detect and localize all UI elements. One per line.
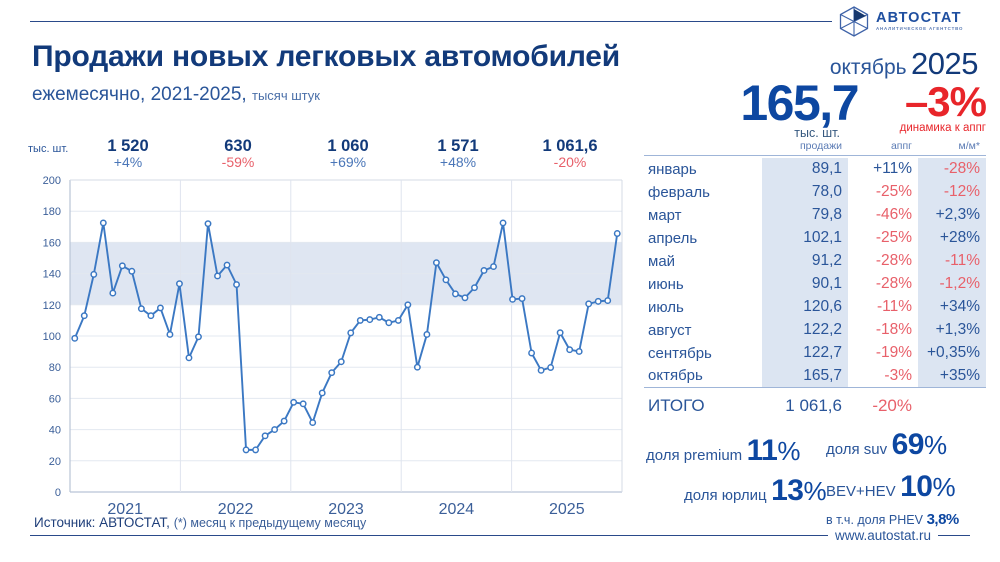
website-url: www.autostat.ru: [828, 528, 938, 543]
data-point: [234, 282, 239, 287]
y-tick-label: 200: [43, 175, 61, 187]
data-point: [586, 301, 591, 306]
y-tick-label: 140: [43, 269, 61, 281]
cell-yoy: -18%: [848, 319, 918, 342]
x-tick-label-2025: 2025: [549, 501, 585, 515]
table-total-row: ИТОГО1 061,6-20%: [644, 391, 986, 417]
cell-sales: 78,0: [762, 181, 848, 204]
data-point: [596, 299, 601, 304]
data-point: [167, 332, 172, 337]
source-footnote: (*) месяц к предыдущему месяцу: [174, 516, 367, 530]
data-point: [110, 290, 115, 295]
data-point: [120, 263, 125, 268]
stat-bev-hev: BEV+HEV 10%: [826, 472, 955, 502]
data-point: [472, 285, 477, 290]
stat-bev-hev-value: 10%: [900, 470, 955, 503]
data-point: [377, 315, 382, 320]
share-stats: доля premium 11% доля suv 69% доля юрлиц…: [630, 424, 990, 524]
data-point: [510, 297, 515, 302]
data-point: [481, 268, 486, 273]
stat-legal-entities: доля юрлиц 13%: [684, 476, 826, 506]
logo-name: АВТОСТАТ: [876, 11, 963, 26]
data-point: [415, 365, 420, 370]
cell-yoy: -19%: [848, 342, 918, 365]
data-point: [348, 330, 353, 335]
data-point: [215, 273, 220, 278]
y-tick-label: 80: [49, 362, 61, 374]
cell-month: апрель: [644, 227, 762, 250]
cell-month: август: [644, 319, 762, 342]
cell-mom: -1,2%: [918, 273, 986, 296]
table-row: июнь90,1-28%-1,2%: [644, 273, 986, 296]
report-year: 2025: [911, 46, 978, 81]
kpi-delta-label: динамика к аппг: [858, 122, 986, 134]
data-point: [386, 320, 391, 325]
data-point: [462, 295, 467, 300]
monthly-sales-table: продажи аппг м/м* январь89,1+11%-28%февр…: [644, 140, 986, 417]
source-note: Источник: АВТОСТАТ, (*) месяц к предыдущ…: [34, 515, 372, 530]
logo-hexagon-icon: [836, 5, 872, 37]
data-point: [424, 332, 429, 337]
data-point: [453, 291, 458, 296]
data-point: [224, 262, 229, 267]
table-row: февраль78,0-25%-12%: [644, 181, 986, 204]
cell-total-mom: [918, 391, 986, 417]
y-tick-label: 160: [43, 237, 61, 249]
table-row: январь89,1+11%-28%: [644, 158, 986, 181]
data-point: [339, 359, 344, 364]
cell-total-label: ИТОГО: [644, 391, 762, 417]
data-point: [500, 220, 505, 225]
data-point: [72, 336, 77, 341]
kpi-delta: –3% динамика к аппг: [858, 82, 986, 134]
x-tick-label-2022: 2022: [218, 501, 254, 515]
cell-month: май: [644, 250, 762, 273]
cell-mom: +0,35%: [918, 342, 986, 365]
page-subtitle: ежемесячно, 2021-2025, тысяч штук: [32, 84, 320, 106]
data-point: [310, 420, 315, 425]
cell-sales: 102,1: [762, 227, 848, 250]
logo-wordmark: АВТОСТАТ АНАЛИТИЧЕСКОЕ АГЕНТСТВО: [876, 11, 963, 32]
data-point: [329, 370, 334, 375]
cell-mom: -28%: [918, 158, 986, 181]
col-header-month: [644, 140, 762, 156]
cell-sales: 89,1: [762, 158, 848, 181]
cell-month: июнь: [644, 273, 762, 296]
data-point: [148, 313, 153, 318]
data-point: [434, 260, 439, 265]
data-point: [253, 447, 258, 452]
stat-bev-hev-label: BEV+HEV: [826, 483, 896, 500]
y-tick-label: 180: [43, 206, 61, 218]
data-point: [91, 272, 96, 277]
cell-total-yoy: -20%: [848, 391, 918, 417]
y-tick-label: 120: [43, 300, 61, 312]
data-point: [605, 298, 610, 303]
cell-yoy: -25%: [848, 227, 918, 250]
stat-premium-label: доля premium: [646, 447, 742, 464]
data-point: [358, 318, 363, 323]
subtitle-unit: тысяч штук: [252, 88, 320, 103]
data-point: [567, 347, 572, 352]
data-point: [519, 296, 524, 301]
x-tick-label-2021: 2021: [107, 501, 143, 515]
data-point: [300, 401, 305, 406]
data-point: [186, 355, 191, 360]
stat-premium: доля premium 11%: [646, 436, 800, 466]
cell-month: март: [644, 204, 762, 227]
cell-yoy: -46%: [848, 204, 918, 227]
cell-yoy: -11%: [848, 296, 918, 319]
monthly-sales-chart: тыс. шт. 1 520+4%630-59%1 060+69%1 571+4…: [0, 125, 646, 515]
cell-mom: -11%: [918, 250, 986, 273]
autostat-logo: АВТОСТАТ АНАЛИТИЧЕСКОЕ АГЕНТСТВО: [832, 2, 978, 40]
y-tick-label: 100: [43, 331, 61, 343]
data-point: [396, 318, 401, 323]
data-point: [139, 306, 144, 311]
cell-month: сентябрь: [644, 342, 762, 365]
stat-suv-label: доля suv: [826, 441, 887, 458]
data-point: [129, 269, 134, 274]
data-point: [557, 330, 562, 335]
data-point: [243, 447, 248, 452]
cell-sales: 79,8: [762, 204, 848, 227]
data-point: [82, 313, 87, 318]
cell-mom: +35%: [918, 365, 986, 388]
data-point: [158, 305, 163, 310]
table-row: март79,8-46%+2,3%: [644, 204, 986, 227]
stat-suv-value: 69%: [892, 428, 947, 461]
data-point: [443, 277, 448, 282]
data-point: [548, 365, 553, 370]
data-point: [367, 317, 372, 322]
page-title: Продажи новых легковых автомобилей: [32, 40, 620, 74]
kpi-delta-value: –3%: [858, 82, 986, 122]
cell-yoy: -28%: [848, 273, 918, 296]
y-tick-label: 60: [49, 393, 61, 405]
data-point: [529, 350, 534, 355]
kpi-sales: 165,7 тыс. шт.: [672, 80, 858, 140]
cell-mom: +2,3%: [918, 204, 986, 227]
stat-phev: в т.ч. доля PHEV 3,8%: [826, 512, 959, 527]
cell-month: февраль: [644, 181, 762, 204]
data-point: [272, 427, 277, 432]
data-point: [576, 349, 581, 354]
header-divider: [30, 21, 970, 22]
kpi-sales-value: 165,7: [672, 80, 858, 128]
cell-yoy: -3%: [848, 365, 918, 388]
data-point: [538, 368, 543, 373]
cell-sales: 120,6: [762, 296, 848, 319]
cell-mom: -12%: [918, 181, 986, 204]
cell-total-sales: 1 061,6: [762, 391, 848, 417]
data-point: [101, 220, 106, 225]
infographic-page: АВТОСТАТ АНАЛИТИЧЕСКОЕ АГЕНТСТВО Продажи…: [0, 0, 1000, 562]
data-point: [491, 264, 496, 269]
stat-premium-value: 11%: [747, 434, 800, 467]
table-row: октябрь165,7-3%+35%: [644, 365, 986, 388]
stat-legal-entities-value: 13%: [771, 474, 826, 507]
table-row: август122,2-18%+1,3%: [644, 319, 986, 342]
table-row: июль120,6-11%+34%: [644, 296, 986, 319]
logo-tagline: АНАЛИТИЧЕСКОЕ АГЕНТСТВО: [876, 27, 963, 31]
x-tick-label-2023: 2023: [328, 501, 364, 515]
cell-sales: 91,2: [762, 250, 848, 273]
table-row: апрель102,1-25%+28%: [644, 227, 986, 250]
col-header-sales: продажи: [762, 140, 848, 156]
data-point: [291, 400, 296, 405]
data-point: [405, 302, 410, 307]
stat-suv: доля suv 69%: [826, 430, 947, 460]
data-point: [196, 334, 201, 339]
data-point: [320, 390, 325, 395]
table-header-row: продажи аппг м/м*: [644, 140, 986, 156]
cell-mom: +1,3%: [918, 319, 986, 342]
stat-legal-entities-label: доля юрлиц: [684, 487, 767, 504]
stat-phev-label: в т.ч. доля PHEV: [826, 513, 923, 527]
data-point: [177, 281, 182, 286]
y-tick-label: 20: [49, 456, 61, 468]
x-tick-label-2024: 2024: [439, 501, 475, 515]
cell-month: октябрь: [644, 365, 762, 388]
cell-sales: 90,1: [762, 273, 848, 296]
cell-sales: 122,7: [762, 342, 848, 365]
data-point: [281, 418, 286, 423]
cell-yoy: +11%: [848, 158, 918, 181]
chart-plot-area: 0204060801001201401601802002021202220232…: [0, 125, 646, 515]
table-row: май91,2-28%-11%: [644, 250, 986, 273]
cell-mom: +34%: [918, 296, 986, 319]
cell-mom: +28%: [918, 227, 986, 250]
cell-yoy: -25%: [848, 181, 918, 204]
cell-yoy: -28%: [848, 250, 918, 273]
col-header-mom: м/м*: [918, 140, 986, 156]
col-header-yoy: аппг: [848, 140, 918, 156]
subtitle-main: ежемесячно, 2021-2025,: [32, 84, 247, 105]
table-row: сентябрь122,7-19%+0,35%: [644, 342, 986, 365]
stat-phev-value: 3,8%: [927, 511, 959, 528]
y-tick-label: 40: [49, 425, 61, 437]
data-point: [205, 221, 210, 226]
cell-sales: 122,2: [762, 319, 848, 342]
source-label: Источник: АВТОСТАТ,: [34, 515, 170, 530]
data-point: [615, 231, 620, 236]
table-body: январь89,1+11%-28%февраль78,0-25%-12%мар…: [644, 158, 986, 417]
cell-sales: 165,7: [762, 365, 848, 388]
data-point: [262, 433, 267, 438]
cell-month: январь: [644, 158, 762, 181]
y-tick-label: 0: [55, 487, 61, 499]
cell-month: июль: [644, 296, 762, 319]
